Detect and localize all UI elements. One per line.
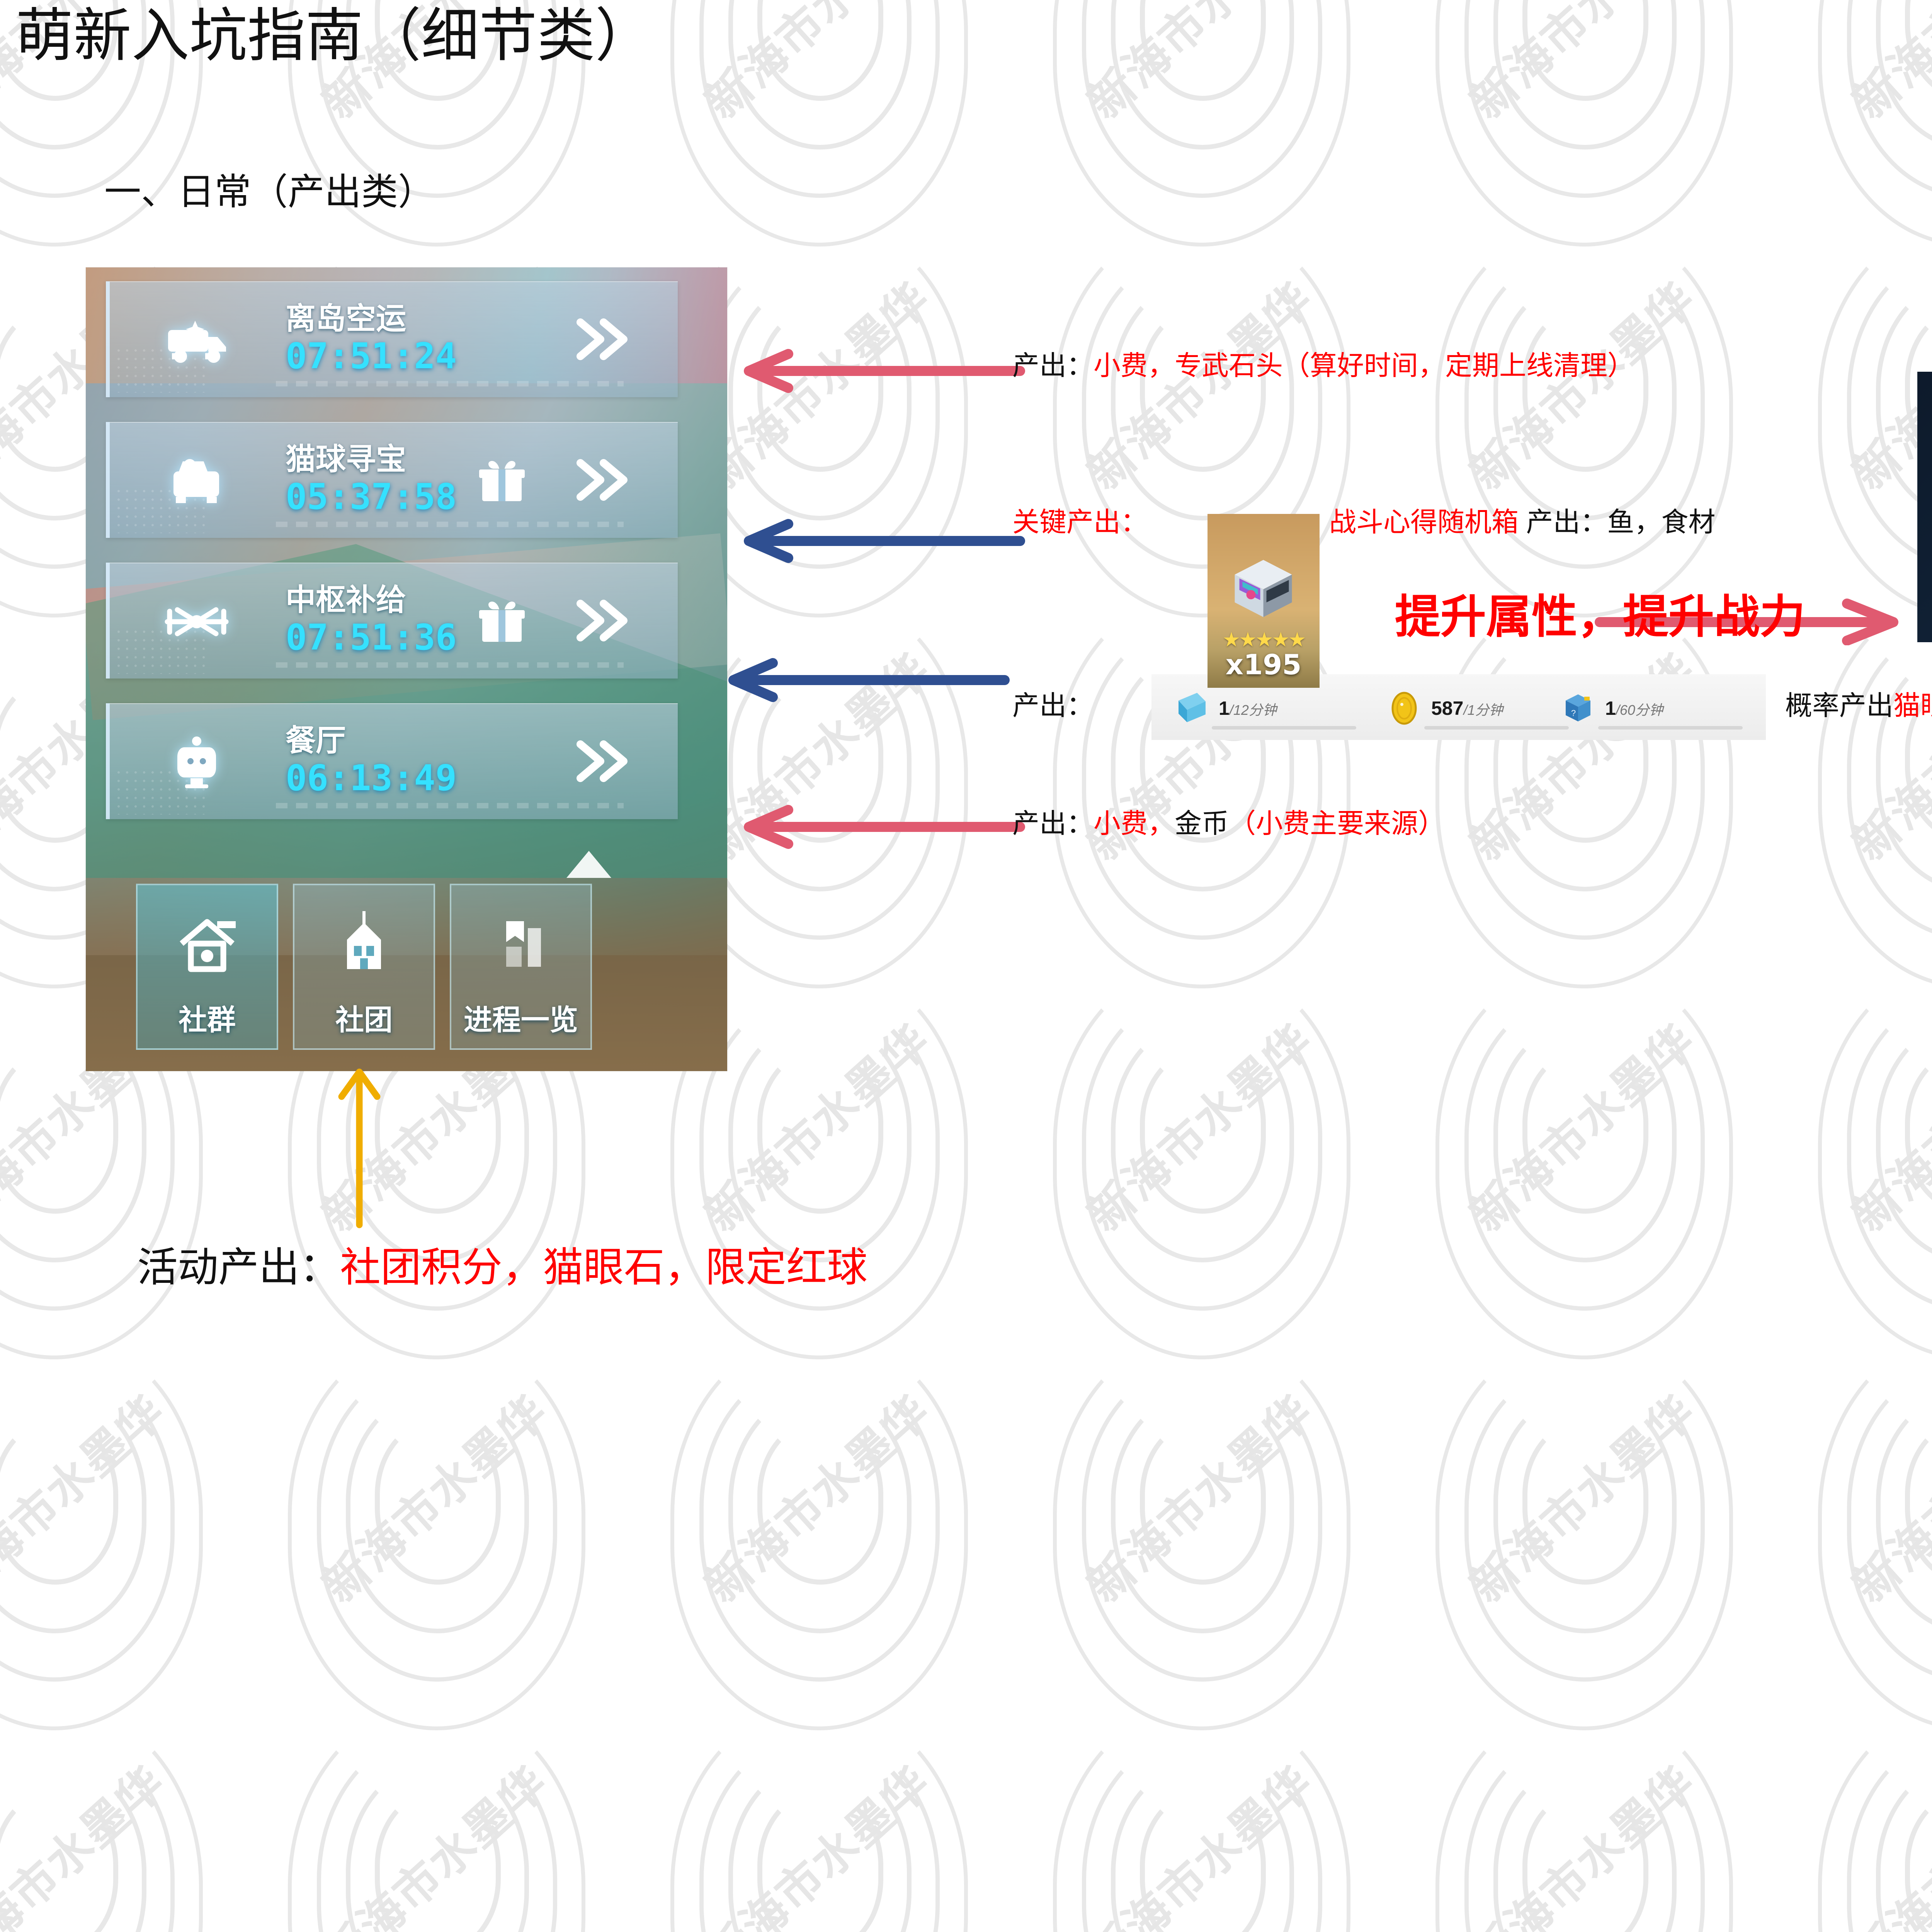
watermark-arcs: [985, 0, 1410, 224]
watermark-arcs: [0, 1283, 263, 1708]
annotation-1-red: 小费，专武石头（算好时间，定期上线清理）: [1094, 350, 1634, 381]
bottom-button-community[interactable]: 社群: [136, 884, 278, 1050]
guild-building-icon: [323, 900, 405, 989]
watermark-text: 新海市水墨华: [1836, 1376, 1932, 1615]
watermark-arcs: [220, 1283, 645, 1708]
watermark-tile: 新海市水墨华: [1368, 1654, 1793, 1932]
chevron-right-icon[interactable]: [566, 449, 635, 511]
watermark-text: 新海市水墨华: [1071, 1376, 1325, 1615]
annotation-2-key: 关键产出：: [1012, 507, 1148, 537]
watermark-arcs: [1750, 170, 1932, 595]
watermark-tile: 新海市水墨华: [603, 0, 1028, 224]
watermark-tile: 新海市水墨华: [985, 541, 1410, 966]
annotation-4-black: 产出：: [1012, 808, 1094, 838]
loot-box-quantity: x195: [1207, 648, 1320, 681]
watermark-arcs: [1750, 912, 1932, 1337]
blue-material-icon: [1175, 690, 1209, 726]
task-card[interactable]: 猫球寻宝 05:37:58: [106, 422, 678, 538]
watermark-arcs: [603, 0, 1028, 224]
decor-strip: [276, 522, 624, 527]
annotation-row-2-suffix: 战斗心得随机箱 产出：鱼，食材: [1329, 500, 1715, 539]
task-card[interactable]: 中枢补给 07:51:36: [106, 563, 678, 679]
loot-box-thumbnail: ★★★★★ x195: [1207, 514, 1320, 688]
watermark-text: 新海市水墨华: [1071, 0, 1325, 131]
task-card[interactable]: 餐厅 06:13:49: [106, 703, 678, 819]
annotation-3-tail-red: 猫眼石: [1893, 690, 1932, 721]
big-red-callout: 提升属性，提升战力: [1395, 580, 1805, 646]
community-home-icon: [167, 900, 248, 989]
watermark-text: 新海市水墨华: [306, 1376, 560, 1615]
task-timer: 05:37:58: [286, 476, 457, 517]
watermark-text: 新海市水墨华: [0, 1376, 177, 1615]
watermark-text: 新海市水墨华: [1836, 1747, 1932, 1932]
task-name: 餐厅: [286, 716, 346, 760]
annotation-4-black2: 金币: [1175, 808, 1229, 838]
arrow-left-blue-2: [711, 657, 1012, 703]
resource-value: 1/12分钟: [1219, 697, 1277, 719]
watermark-tile: 新海市水墨华: [220, 1654, 645, 1932]
bottom-caption: 活动产出：社团积分，猫眼石，限定红球: [137, 1235, 867, 1293]
watermark-arcs: [220, 1654, 645, 1932]
watermark-arcs: [1368, 1654, 1793, 1932]
watermark-arcs: [1368, 1283, 1793, 1708]
loot-box-stars: ★★★★★: [1207, 630, 1320, 650]
annotation-3-black: 产出：: [1012, 690, 1094, 721]
restaurant-icon: [160, 730, 233, 794]
annotation-2-red: 战斗心得随机箱: [1329, 507, 1519, 537]
watermark-arcs: [1750, 0, 1932, 224]
watermark-text: 新海市水墨华: [688, 1376, 942, 1615]
annotation-4-red: 小费，: [1094, 808, 1175, 838]
watermark-tile: 新海市水墨华: [220, 1283, 645, 1708]
watermark-text: 新海市水墨华: [688, 1747, 942, 1932]
bottom-button-label: 社团: [294, 997, 434, 1038]
decor-strip: [276, 803, 624, 808]
arrow-left-blue-1: [726, 518, 1028, 564]
watermark-tile: 新海市水墨华: [1750, 170, 1932, 595]
watermark-tile: 新海市水墨华: [603, 1283, 1028, 1708]
annotation-row-3-prefix: 产出：: [1012, 684, 1094, 723]
arrow-left-pink-1: [726, 348, 1028, 394]
watermark-arcs: [0, 1654, 263, 1932]
bottom-button-label: 社群: [138, 997, 277, 1038]
collapse-triangle-icon[interactable]: [566, 851, 611, 878]
annotation-row-3-suffix: 概率产出猫眼石: [1785, 684, 1932, 723]
annotation-2-black: 产出：鱼，食材: [1519, 507, 1715, 537]
watermark-tile: 新海市水墨华: [1750, 1283, 1932, 1708]
resource-track: [1598, 726, 1743, 730]
truck-icon: [160, 308, 233, 372]
bottom-button-progress[interactable]: 进程一览: [450, 884, 592, 1050]
watermark-arcs: [985, 1283, 1410, 1708]
watermark-text: 新海市水墨华: [688, 0, 942, 131]
bottom-button-row: 社群 社团 进程一览: [136, 884, 592, 1050]
resource-track: [1212, 726, 1356, 730]
gift-icon[interactable]: [477, 459, 527, 505]
resource-item: 1/12分钟: [1175, 690, 1356, 726]
watermark-tile: 新海市水墨华: [985, 1654, 1410, 1932]
progress-list-icon: [480, 900, 561, 989]
watermark-text: 新海市水墨华: [1453, 0, 1708, 131]
chevron-right-icon[interactable]: [566, 730, 635, 792]
annotation-row-1: 产出：小费，专武石头（算好时间，定期上线清理）: [1012, 344, 1634, 383]
watermark-text: 新海市水墨华: [1071, 1747, 1325, 1932]
watermark-tile: 新海市水墨华: [1368, 0, 1793, 224]
watermark-arcs: [1368, 912, 1793, 1337]
resource-value: 1/60分钟: [1605, 697, 1663, 719]
watermark-tile: 新海市水墨华: [1368, 912, 1793, 1337]
watermark-tile: 新海市水墨华: [1368, 1283, 1793, 1708]
annotation-3-tail-black: 概率产出: [1785, 690, 1893, 721]
watermark-tile: 新海市水墨华: [985, 0, 1410, 224]
task-name: 猫球寻宝: [286, 435, 406, 478]
watermark-arcs: [985, 912, 1410, 1337]
arrow-left-pink-2: [726, 804, 1028, 850]
watermark-tile: 新海市水墨华: [1750, 912, 1932, 1337]
chevron-right-icon[interactable]: [566, 590, 635, 651]
gold-coin-icon: [1387, 690, 1421, 726]
section-title: 一、日常（产出类）: [104, 162, 435, 215]
decor-strip: [276, 381, 624, 386]
bottom-caption-black: 活动产出：: [137, 1245, 340, 1290]
watermark-text: 新海市水墨华: [306, 1747, 560, 1932]
watermark-text: 新海市水墨华: [1453, 1376, 1708, 1615]
task-timer: 07:51:36: [286, 617, 457, 658]
resource-value: 587/1分钟: [1431, 697, 1503, 719]
game-screenshot-left: 离岛空运 07:51:24 猫球寻宝 05:37:58: [86, 267, 727, 1071]
watermark-tile: 新海市水墨华: [985, 912, 1410, 1337]
task-name: 中枢补给: [286, 576, 406, 619]
task-timer: 06:13:49: [286, 757, 457, 799]
battle-insight-box-icon: [1228, 554, 1299, 622]
watermark-arcs: [603, 1654, 1028, 1932]
annotation-4-red2: （小费主要来源）: [1229, 808, 1445, 838]
watermark-text: 新海市水墨华: [1836, 634, 1932, 873]
decor-strip: [276, 662, 624, 668]
cat-ball-icon: [160, 449, 233, 513]
resource-track: [1424, 726, 1569, 730]
bottom-button-guild[interactable]: 社团: [293, 884, 435, 1050]
annotation-row-2-prefix: 关键产出：: [1012, 500, 1148, 539]
task-timer: 07:51:24: [286, 335, 457, 377]
watermark-tile: 新海市水墨华: [1750, 0, 1932, 224]
battle-archive-panel: 战斗档案总加成 攻击力 2379 防御力 2146 生命值 6300: [1917, 372, 1932, 642]
annotation-row-4: 产出：小费，金币（小费主要来源）: [1012, 802, 1445, 841]
watermark-tile: 新海市水墨华: [985, 1283, 1410, 1708]
svg-text:?: ?: [1571, 708, 1576, 718]
watermark-arcs: [603, 1283, 1028, 1708]
watermark-text: 新海市水墨华: [1836, 1005, 1932, 1244]
chevron-right-icon[interactable]: [566, 308, 635, 370]
annotation-1-black: 产出：: [1012, 350, 1094, 381]
watermark-arcs: [985, 1654, 1410, 1932]
watermark-arcs: [1750, 1283, 1932, 1708]
task-card[interactable]: 离岛空运 07:51:24: [106, 281, 678, 397]
watermark-text: 新海市水墨华: [1453, 1747, 1708, 1932]
watermark-arcs: [1368, 0, 1793, 224]
watermark-tile: 新海市水墨华: [1750, 1654, 1932, 1932]
task-name: 离岛空运: [286, 294, 406, 338]
bottom-caption-red: 社团积分，猫眼石，限定红球: [340, 1245, 867, 1290]
watermark-tile: 新海市水墨华: [0, 1654, 263, 1932]
watermark-text: 新海市水墨华: [1453, 634, 1708, 873]
watermark-tile: 新海市水墨华: [0, 1283, 263, 1708]
watermark-text: 新海市水墨华: [1836, 0, 1932, 131]
watermark-text: 新海市水墨华: [1071, 1005, 1325, 1244]
resource-item: 587/1分钟: [1387, 690, 1569, 726]
hub-supply-icon: [160, 590, 233, 653]
blue-box-icon: ?: [1561, 690, 1595, 726]
bottom-button-label: 进程一览: [451, 997, 590, 1038]
arrow-yellow-up: [328, 1066, 390, 1229]
resource-item: ? 1/60分钟: [1561, 690, 1743, 726]
page-title: 萌新入坑指南（细节类）: [15, 4, 653, 68]
gift-icon[interactable]: [477, 599, 527, 646]
watermark-arcs: [1750, 1654, 1932, 1932]
watermark-text: 新海市水墨华: [0, 1747, 177, 1932]
watermark-text: 新海市水墨华: [1453, 1005, 1708, 1244]
watermark-tile: 新海市水墨华: [603, 1654, 1028, 1932]
watermark-arcs: [985, 541, 1410, 966]
